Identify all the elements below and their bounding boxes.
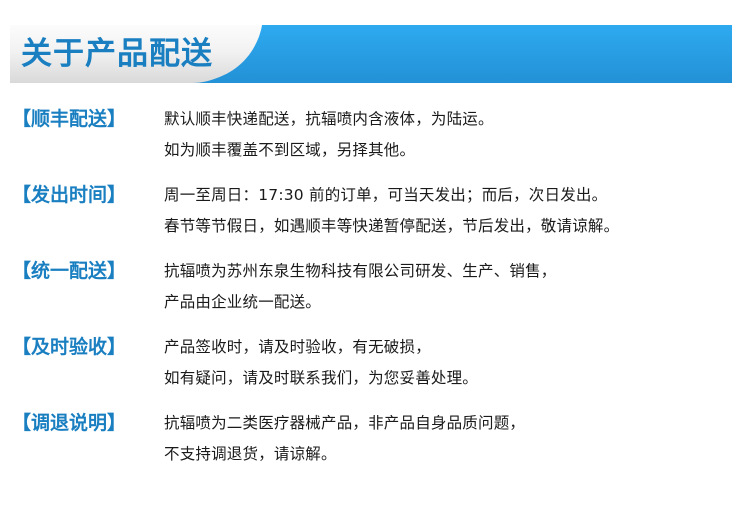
info-row-line: 不支持调退货，请谅解。 [164, 439, 750, 470]
info-row-label: 【发出时间】 [12, 180, 164, 211]
info-row-line: 默认顺丰快递配送，抗辐喷内含液体，为陆运。 [164, 104, 750, 135]
info-row-line: 抗辐喷为苏州东泉生物科技有限公司研发、生产、销售， [164, 256, 750, 287]
info-row-text: 产品签收时，请及时验收，有无破损， 如有疑问，请及时联系我们，为您妥善处理。 [164, 332, 750, 394]
info-row-label: 【统一配送】 [12, 256, 164, 287]
info-row: 【发出时间】 周一至周日：17:30 前的订单，可当天发出；而后，次日发出。 春… [0, 180, 750, 242]
page-title: 关于产品配送 [21, 29, 213, 79]
info-row-line: 春节等节假日，如遇顺丰等快递暂停配送，节后发出，敬请谅解。 [164, 211, 750, 242]
info-row: 【顺丰配送】 默认顺丰快递配送，抗辐喷内含液体，为陆运。 如为顺丰覆盖不到区域，… [0, 104, 750, 166]
info-row-label: 【顺丰配送】 [12, 104, 164, 135]
info-row: 【及时验收】 产品签收时，请及时验收，有无破损， 如有疑问，请及时联系我们，为您… [0, 332, 750, 394]
info-row-label: 【及时验收】 [12, 332, 164, 363]
info-row: 【统一配送】 抗辐喷为苏州东泉生物科技有限公司研发、生产、销售， 产品由企业统一… [0, 256, 750, 318]
info-row-line: 如为顺丰覆盖不到区域，另择其他。 [164, 135, 750, 166]
page-header: 关于产品配送 [0, 0, 750, 105]
info-row-line: 如有疑问，请及时联系我们，为您妥善处理。 [164, 363, 750, 394]
info-row-text: 抗辐喷为二类医疗器械产品，非产品自身品质问题， 不支持调退货，请谅解。 [164, 408, 750, 470]
info-row-line: 产品由企业统一配送。 [164, 287, 750, 318]
info-row-line: 周一至周日：17:30 前的订单，可当天发出；而后，次日发出。 [164, 180, 750, 211]
info-row-text: 周一至周日：17:30 前的订单，可当天发出；而后，次日发出。 春节等节假日，如… [164, 180, 750, 242]
shipping-info-list: 【顺丰配送】 默认顺丰快递配送，抗辐喷内含液体，为陆运。 如为顺丰覆盖不到区域，… [0, 104, 750, 484]
info-row: 【调退说明】 抗辐喷为二类医疗器械产品，非产品自身品质问题， 不支持调退货，请谅… [0, 408, 750, 470]
info-row-text: 抗辐喷为苏州东泉生物科技有限公司研发、生产、销售， 产品由企业统一配送。 [164, 256, 750, 318]
info-row-line: 产品签收时，请及时验收，有无破损， [164, 332, 750, 363]
info-row-label: 【调退说明】 [12, 408, 164, 439]
info-row-line: 抗辐喷为二类医疗器械产品，非产品自身品质问题， [164, 408, 750, 439]
info-row-text: 默认顺丰快递配送，抗辐喷内含液体，为陆运。 如为顺丰覆盖不到区域，另择其他。 [164, 104, 750, 166]
